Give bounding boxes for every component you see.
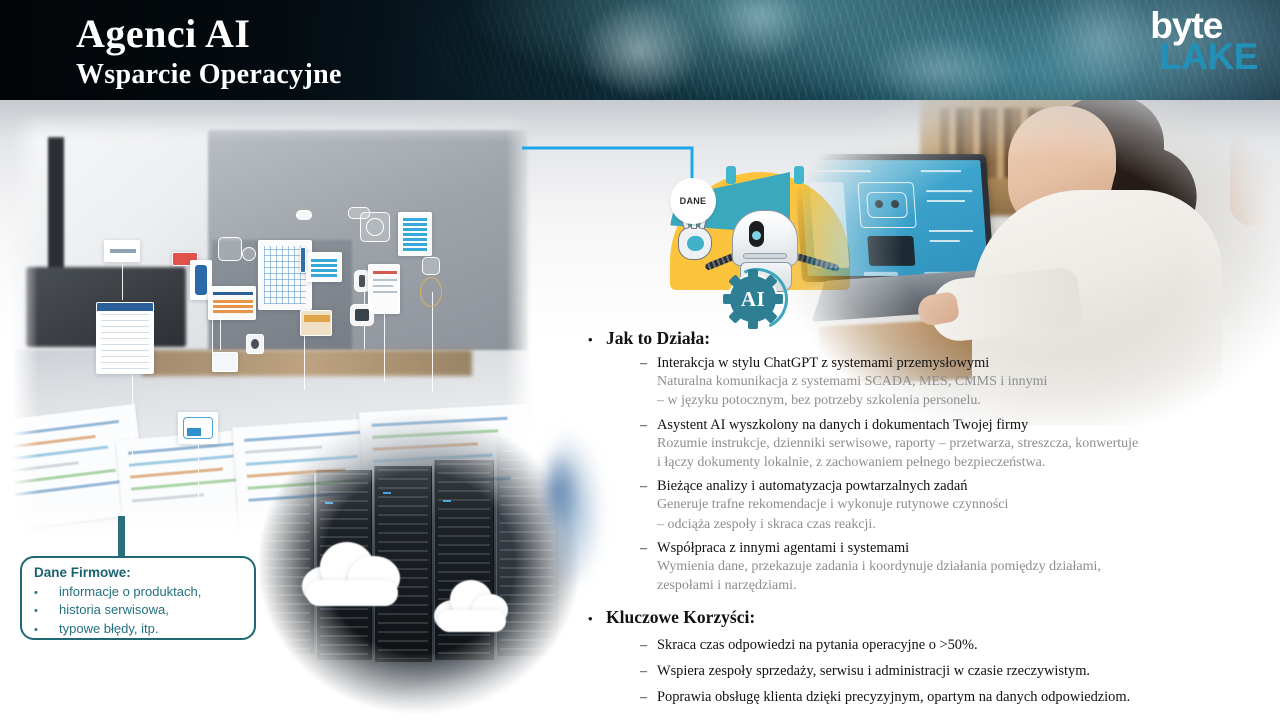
list-item-title: Bieżące analizy i automatyzacja powtarza… [657, 478, 967, 495]
section-heading-label: Jak to Działa: [606, 328, 710, 349]
company-data-callout: Dane Firmowe: • informacje o produktach,… [20, 556, 256, 640]
list-item: – Skraca czas odpowiedzi na pytania oper… [640, 637, 1268, 654]
dash-marker: – [640, 664, 657, 680]
dash-marker: – [640, 690, 657, 706]
laptop [793, 154, 994, 282]
bullet-marker: • [34, 586, 59, 602]
list-item-desc-line: i łączy dokumenty lokalnie, z zachowanie… [657, 453, 1268, 472]
robot-hand [678, 226, 712, 260]
robot-mouth [743, 253, 787, 259]
list-item: – Interakcja w stylu ChatGPT z systemami… [640, 355, 1268, 411]
callout-title: Dane Firmowe: [34, 565, 244, 582]
list-item-desc-line: Wymienia dane, przekazuje zadania i koor… [657, 557, 1268, 576]
data-label-text: DANE [680, 196, 707, 206]
callout-connector-line [118, 516, 125, 560]
dash-marker: – [640, 638, 657, 654]
list-item: – Wspiera zespoły sprzedaży, serwisu i a… [640, 663, 1268, 680]
list-item-label: informacje o produktach, [59, 583, 201, 601]
dash-marker: – [640, 479, 657, 495]
title-block: Agenci AI Wsparcie Operacyjne [76, 14, 342, 91]
robot-ear-left [726, 166, 736, 184]
list-item: – Współpraca z innymi agentami i systema… [640, 540, 1268, 596]
list-item-desc-line: – w języku potocznym, bez potrzeby szkol… [657, 391, 1268, 410]
dash-marker: – [640, 418, 657, 434]
list-item: • historia serwisowa, [34, 601, 244, 620]
gear-icon: AI [728, 274, 778, 324]
bytelake-logo: byte LAKE [1150, 8, 1258, 74]
list-item-label: Skraca czas odpowiedzi na pytania operac… [657, 637, 978, 654]
robot-eye [749, 221, 764, 247]
content-body: • Jak to Działa: – Interakcja w stylu Ch… [588, 328, 1268, 706]
list-item-desc-line: zespołami i narzędziami. [657, 576, 1268, 595]
list-item-desc-line: – odciąża zespoły i skraca czas reakcji. [657, 515, 1268, 534]
dash-marker: – [640, 541, 657, 557]
list-item-desc-line: Generuje trafne rekomendacje i wykonuje … [657, 495, 1268, 514]
laptop-screen [800, 160, 989, 276]
robot-head [732, 210, 798, 266]
section-heading-how-it-works: • Jak to Działa: [588, 328, 1268, 349]
logo-text-lake: LAKE [1159, 39, 1258, 74]
list-item: – Bieżące analizy i automatyzacja powtar… [640, 478, 1268, 534]
section-heading-label: Kluczowe Korzyści: [606, 607, 755, 628]
list-item-label: historia serwisowa, [59, 601, 169, 619]
list-item-label: Poprawia obsługę klienta dzięki precyzyj… [657, 689, 1130, 706]
section-heading-key-benefits: • Kluczowe Korzyści: [588, 607, 1268, 628]
list-item-title: Współpraca z innymi agentami i systemami [657, 540, 909, 557]
data-label-badge: DANE [670, 178, 716, 224]
bullet-marker: • [34, 623, 59, 639]
list-item: – Poprawia obsługę klienta dzięki precyz… [640, 689, 1268, 706]
ai-gear-badge: AI [722, 268, 784, 330]
page-subtitle: Wsparcie Operacyjne [76, 60, 342, 91]
list-item: • informacje o produktach, [34, 583, 244, 602]
list-item-title: Interakcja w stylu ChatGPT z systemami p… [657, 355, 989, 372]
ai-label-text: AI [741, 287, 765, 312]
list-item-desc-line: Naturalna komunikacja z systemami SCADA,… [657, 372, 1268, 391]
page-title: Agenci AI [76, 14, 342, 54]
dash-marker: – [640, 356, 657, 372]
list-item-label: typowe błędy, itp. [59, 620, 158, 638]
list-item: – Asystent AI wyszkolony na danych i dok… [640, 417, 1268, 473]
bullet-marker: • [588, 612, 606, 625]
list-item-desc-line: Rozumie instrukcje, dzienniki serwisowe,… [657, 434, 1268, 453]
bullet-marker: • [588, 333, 606, 346]
list-item-label: Wspiera zespoły sprzedaży, serwisu i adm… [657, 663, 1090, 680]
callout-list: • informacje o produktach, • historia se… [34, 583, 244, 639]
list-item: • typowe błędy, itp. [34, 620, 244, 639]
benefits-section: • Kluczowe Korzyści: – Skraca czas odpow… [588, 607, 1268, 706]
list-item-title: Asystent AI wyszkolony na danych i dokum… [657, 417, 1028, 434]
server-cloud-photo [254, 408, 584, 718]
bullet-marker: • [34, 604, 59, 620]
